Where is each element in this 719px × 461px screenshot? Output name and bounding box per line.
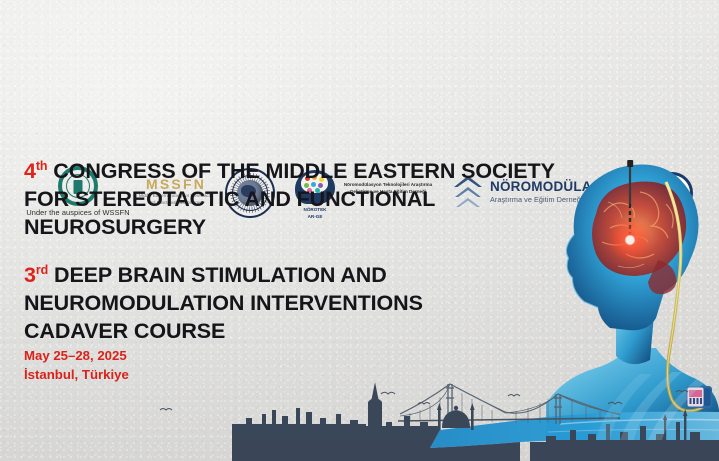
istanbul-skyline (0, 366, 719, 461)
congress-ordinal: 4th (24, 159, 47, 183)
course-title-text: DEEP BRAIN STIMULATION AND NEUROMODULATI… (24, 263, 423, 343)
congress-title-text: CONGRESS OF THE MIDDLE EASTERN SOCIETY F… (24, 159, 554, 239)
event-dates: May 25–28, 2025 (24, 347, 129, 366)
conference-poster: Under the auspices of WSSFN MSSFN Middle… (0, 0, 719, 461)
sponsor-logo-strip: Under the auspices of WSSFN MSSFN Middle… (0, 82, 719, 140)
course-title: 3rd DEEP BRAIN STIMULATION AND NEUROMODU… (24, 262, 454, 346)
course-ordinal: 3rd (24, 263, 48, 287)
congress-title: 4th CONGRESS OF THE MIDDLE EASTERN SOCIE… (24, 158, 569, 242)
